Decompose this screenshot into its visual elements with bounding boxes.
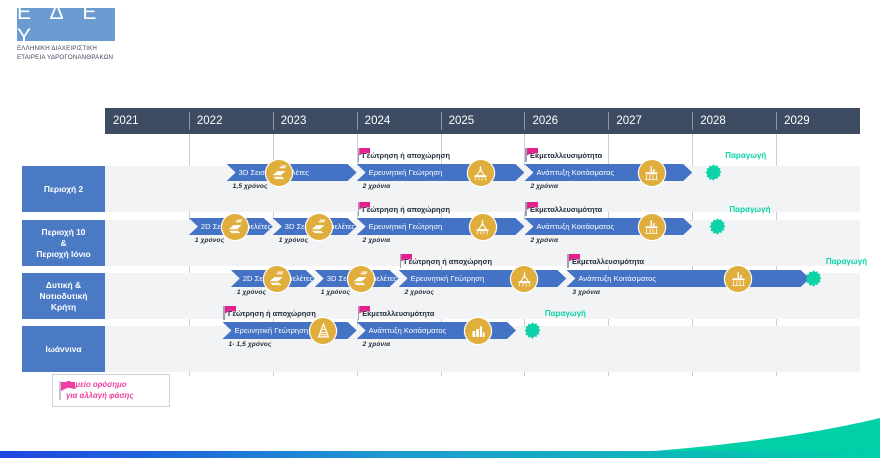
task-duration-label: 1- 1,5 χρόνος: [228, 341, 271, 348]
production-gear-icon: [523, 321, 542, 340]
year-header-2022: 2022: [189, 108, 273, 134]
offshore-rig-icon: [468, 160, 494, 186]
task-duration-label: 1 χρόνος: [279, 237, 308, 244]
milestone-label: Εκμεταλλευσιμότητα: [362, 309, 434, 318]
milestone-1: Γεώτρηση ή αποχώρηση: [400, 254, 492, 268]
row-label-1[interactable]: Περιοχή 2: [22, 166, 105, 212]
production-gear-icon: [704, 163, 723, 182]
milestone-label: Εκμεταλλευσιμότητα: [530, 205, 602, 214]
milestone-2: Εκμεταλλευσιμότητα: [358, 306, 435, 320]
milestone-label: Γεώτρηση ή αποχώρηση: [228, 309, 316, 318]
task-duration-label: 1,5 χρόνος: [233, 183, 268, 190]
task-duration-label: 2 χρόνος: [405, 289, 434, 296]
production-platform-icon: [725, 266, 751, 292]
row-label-3[interactable]: Δυτική & Νοτιοδυτική Κρήτη: [22, 273, 105, 319]
task-duration-label: 2 χρόνια: [363, 237, 391, 244]
milestone-1: Γεώτρηση ή αποχώρηση: [358, 148, 450, 162]
task-bar[interactable]: Ανάπτυξη Κοιτάσματος: [524, 218, 692, 235]
seismic-survey-icon: [348, 266, 374, 292]
production-gear-icon: [804, 269, 823, 288]
gantt-chart: 202120222023202420252026202720282029 Γεώ…: [105, 108, 860, 376]
year-header-2029: 2029: [776, 108, 860, 134]
production-label: Παραγωγή: [826, 257, 867, 266]
milestone-flag-icon: [525, 148, 527, 162]
track-row-4: Γεώτρηση ή αποχώρησηΕκμεταλλευσιμότηταΕρ…: [105, 298, 860, 346]
year-header-2026: 2026: [524, 108, 608, 134]
task-duration-label: 2 χρόνια: [530, 183, 558, 190]
milestone-flag-icon: [358, 306, 360, 320]
row-label-4[interactable]: Ιωάννινα: [22, 326, 105, 372]
milestone-label: Εκμεταλλευσιμότητα: [530, 151, 602, 160]
year-header-2025: 2025: [441, 108, 525, 134]
year-header-2028: 2028: [692, 108, 776, 134]
legend-label: Σημείο ορόσημο για αλλαγή φάσης: [66, 380, 133, 401]
production-platform-icon: [639, 214, 665, 240]
task-duration-label: 2 χρόνια: [363, 183, 391, 190]
task-duration-label: 1 χρόνος: [321, 289, 350, 296]
year-axis-header: 202120222023202420252026202720282029: [105, 108, 860, 134]
company-logo: Ε Δ Ε Υ ΕΛΛΗΝΙΚΗ ΔΙΑΧΕΙΡΙΣΤΙΚΗ ΕΤΑΙΡΕΙΑ …: [17, 8, 115, 62]
milestone-flag-icon: [525, 202, 527, 216]
year-header-2021: 2021: [105, 108, 189, 134]
offshore-rig-icon: [511, 266, 537, 292]
production-gear-icon: [708, 217, 727, 236]
slide-root: Ε Δ Ε Υ ΕΛΛΗΝΙΚΗ ΔΙΑΧΕΙΡΙΣΤΙΚΗ ΕΤΑΙΡΕΙΑ …: [0, 0, 880, 458]
milestone-label: Γεώτρηση ή αποχώρηση: [362, 151, 450, 160]
production-label: Παραγωγή: [725, 151, 766, 160]
milestone-label: Γεώτρηση ή αποχώρηση: [362, 205, 450, 214]
onshore-rig-icon: [310, 318, 336, 344]
task-duration-label: 1 χρόνος: [237, 289, 266, 296]
footer-decoration: [0, 418, 880, 458]
task-duration-label: 3 χρόνια: [572, 289, 600, 296]
milestone-1: Γεώτρηση ή αποχώρηση: [223, 306, 315, 320]
milestone-2: Εκμεταλλευσιμότητα: [525, 148, 602, 162]
task-bar[interactable]: Ανάπτυξη Κοιτάσματος: [357, 322, 516, 339]
milestone-flag-icon: [358, 202, 360, 216]
offshore-rig-icon: [470, 214, 496, 240]
task-bar[interactable]: Ανάπτυξη Κοιτάσματος: [524, 164, 692, 181]
milestone-flag-icon: [358, 148, 360, 162]
task-bar[interactable]: Ερευνητική Γεώτρηση: [222, 322, 356, 339]
task-bar[interactable]: Ανάπτυξη Κοιτάσματος: [566, 270, 809, 287]
task-bar[interactable]: Ερευνητική Γεώτρηση: [357, 218, 525, 235]
task-tracks: Γεώτρηση ή αποχώρησηΕκμεταλλευσιμότητα3D…: [105, 134, 860, 376]
track-row-2: Γεώτρηση ή αποχώρησηΕκμεταλλευσιμότητα2D…: [105, 194, 860, 242]
row-label-2[interactable]: Περιοχή 10 & Περιοχή Ιόνιο: [22, 220, 105, 266]
row-label-column: Περιοχή 2Περιοχή 10 & Περιοχή ΙόνιοΔυτικ…: [22, 108, 105, 376]
legend-milestone: Σημείο ορόσημο για αλλαγή φάσης: [52, 374, 170, 407]
seismic-survey-icon: [264, 266, 290, 292]
task-bar[interactable]: Ερευνητική Γεώτρηση: [399, 270, 567, 287]
milestone-flag-icon: [59, 381, 61, 400]
seismic-survey-icon: [266, 160, 292, 186]
year-header-2024: 2024: [357, 108, 441, 134]
production-label: Παραγωγή: [729, 205, 770, 214]
milestone-label: Γεώτρηση ή αποχώρηση: [404, 257, 492, 266]
milestone-flag-icon: [223, 306, 225, 320]
milestone-label: Εκμεταλλευσιμότητα: [572, 257, 644, 266]
production-label: Παραγωγή: [545, 309, 586, 318]
task-duration-label: 1 χρόνος: [195, 237, 224, 244]
milestone-flag-icon: [400, 254, 402, 268]
logo-mark-edey: Ε Δ Ε Υ: [17, 8, 115, 41]
task-duration-label: 2 χρόνια: [530, 237, 558, 244]
milestone-flag-icon: [567, 254, 569, 268]
production-platform-icon: [639, 160, 665, 186]
milestone-2: Εκμεταλλευσιμότητα: [567, 254, 644, 268]
track-row-1: Γεώτρηση ή αποχώρησηΕκμεταλλευσιμότητα3D…: [105, 140, 860, 190]
milestone-1: Γεώτρηση ή αποχώρηση: [358, 202, 450, 216]
seismic-survey-icon: [222, 214, 248, 240]
year-header-2023: 2023: [273, 108, 357, 134]
task-bar[interactable]: Ερευνητική Γεώτρηση: [357, 164, 525, 181]
seismic-survey-icon: [306, 214, 332, 240]
year-header-2027: 2027: [608, 108, 692, 134]
milestone-2: Εκμεταλλευσιμότητα: [525, 202, 602, 216]
track-row-3: Γεώτρηση ή αποχώρησηΕκμεταλλευσιμότητα2D…: [105, 246, 860, 294]
footer-swoosh-icon: [0, 418, 880, 458]
task-duration-label: 2 χρόνια: [363, 341, 391, 348]
onshore-plant-icon: [465, 318, 491, 344]
